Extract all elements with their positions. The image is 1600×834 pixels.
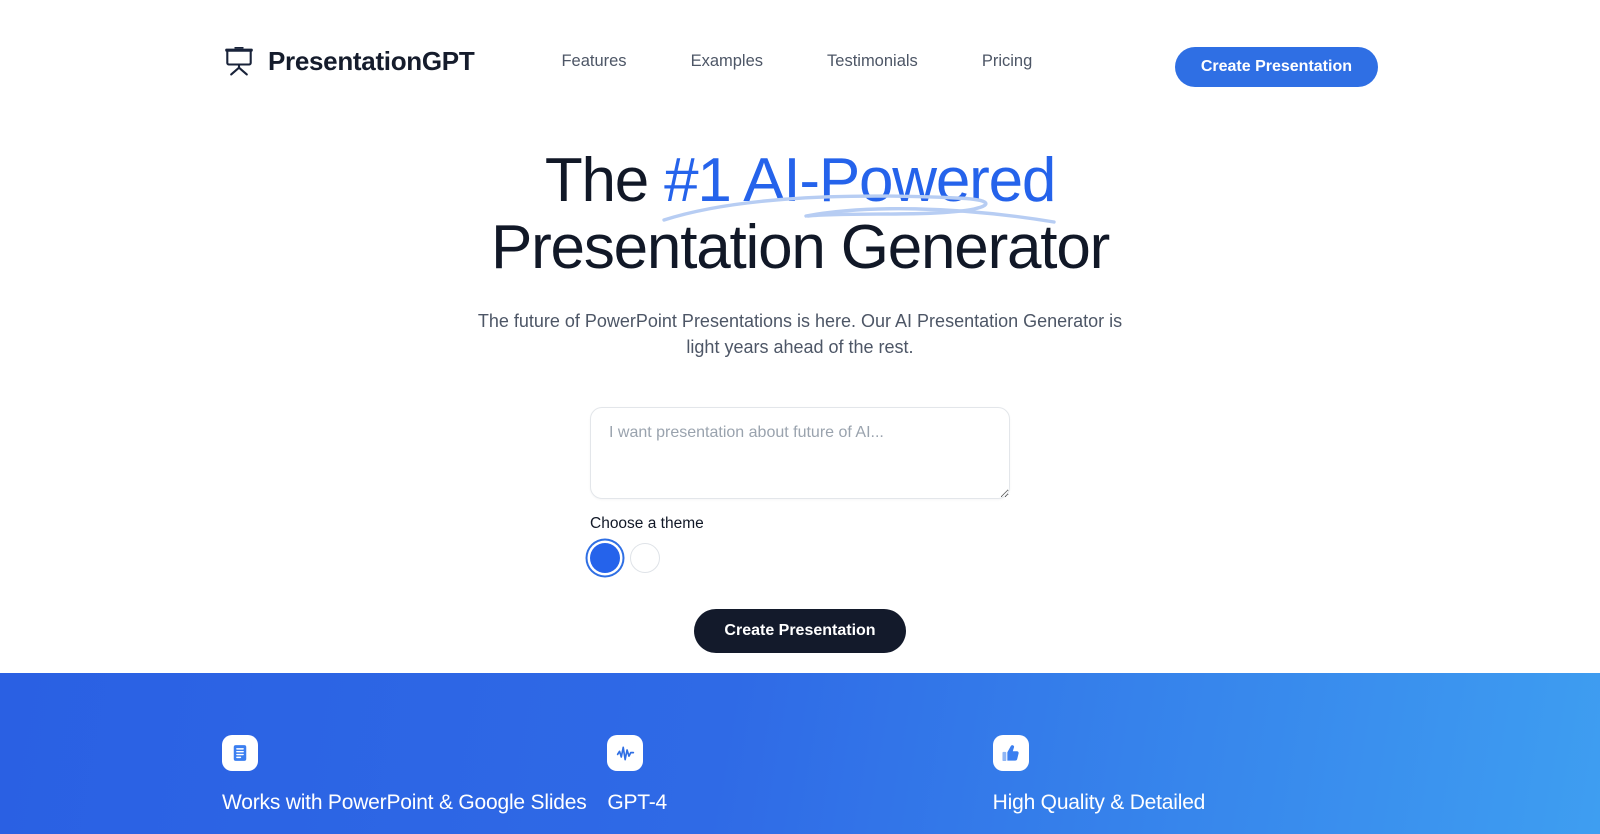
headline-tail: Presentation Generator: [491, 213, 1109, 282]
theme-picker-label: Choose a theme: [590, 515, 1010, 533]
site-header: PresentationGPT Features Examples Testim…: [0, 0, 1600, 122]
prompt-input[interactable]: [590, 407, 1010, 499]
feature-title: High Quality & Detailed: [993, 791, 1378, 815]
waveform-pulse-icon: [607, 735, 643, 771]
submit-row: Create Presentation: [590, 609, 1010, 653]
main-navigation: Features Examples Testimonials Pricing: [529, 44, 1064, 79]
hero-subtitle: The future of PowerPoint Presentations i…: [478, 308, 1123, 360]
thumbs-up-icon: [993, 735, 1029, 771]
prompt-form: Choose a theme Create Presentation: [590, 407, 1010, 653]
nav-link-examples[interactable]: Examples: [659, 44, 795, 79]
brand-name: PresentationGPT: [268, 46, 474, 77]
feature-item-powerpoint: Works with PowerPoint & Google Slides: [222, 735, 607, 815]
document-lines-icon: [222, 735, 258, 771]
page-title: The #1 AI-Powered Presentation Generator: [491, 148, 1109, 282]
feature-title: GPT-4: [607, 791, 992, 815]
nav-link-features[interactable]: Features: [529, 44, 658, 79]
feature-title: Works with PowerPoint & Google Slides: [222, 791, 607, 815]
feature-item-quality: High Quality & Detailed: [993, 735, 1378, 815]
features-band: Works with PowerPoint & Google Slides GP…: [0, 673, 1600, 834]
theme-swatch-blue[interactable]: [590, 543, 620, 573]
theme-swatch-group: [590, 543, 1010, 573]
features-grid: Works with PowerPoint & Google Slides GP…: [222, 673, 1378, 815]
hero-section: The #1 AI-Powered Presentation Generator…: [0, 122, 1600, 653]
nav-link-testimonials[interactable]: Testimonials: [795, 44, 950, 79]
presentation-board-icon: [222, 44, 256, 78]
feature-item-gpt4: GPT-4: [607, 735, 992, 815]
brand-logo[interactable]: PresentationGPT: [222, 44, 474, 78]
nav-link-pricing[interactable]: Pricing: [950, 44, 1064, 79]
headline-lead: The: [545, 146, 664, 215]
header-create-presentation-button[interactable]: Create Presentation: [1175, 47, 1378, 87]
theme-swatch-white[interactable]: [630, 543, 660, 573]
headline-accent: #1 AI-Powered: [664, 146, 1055, 215]
create-presentation-button[interactable]: Create Presentation: [694, 609, 905, 653]
